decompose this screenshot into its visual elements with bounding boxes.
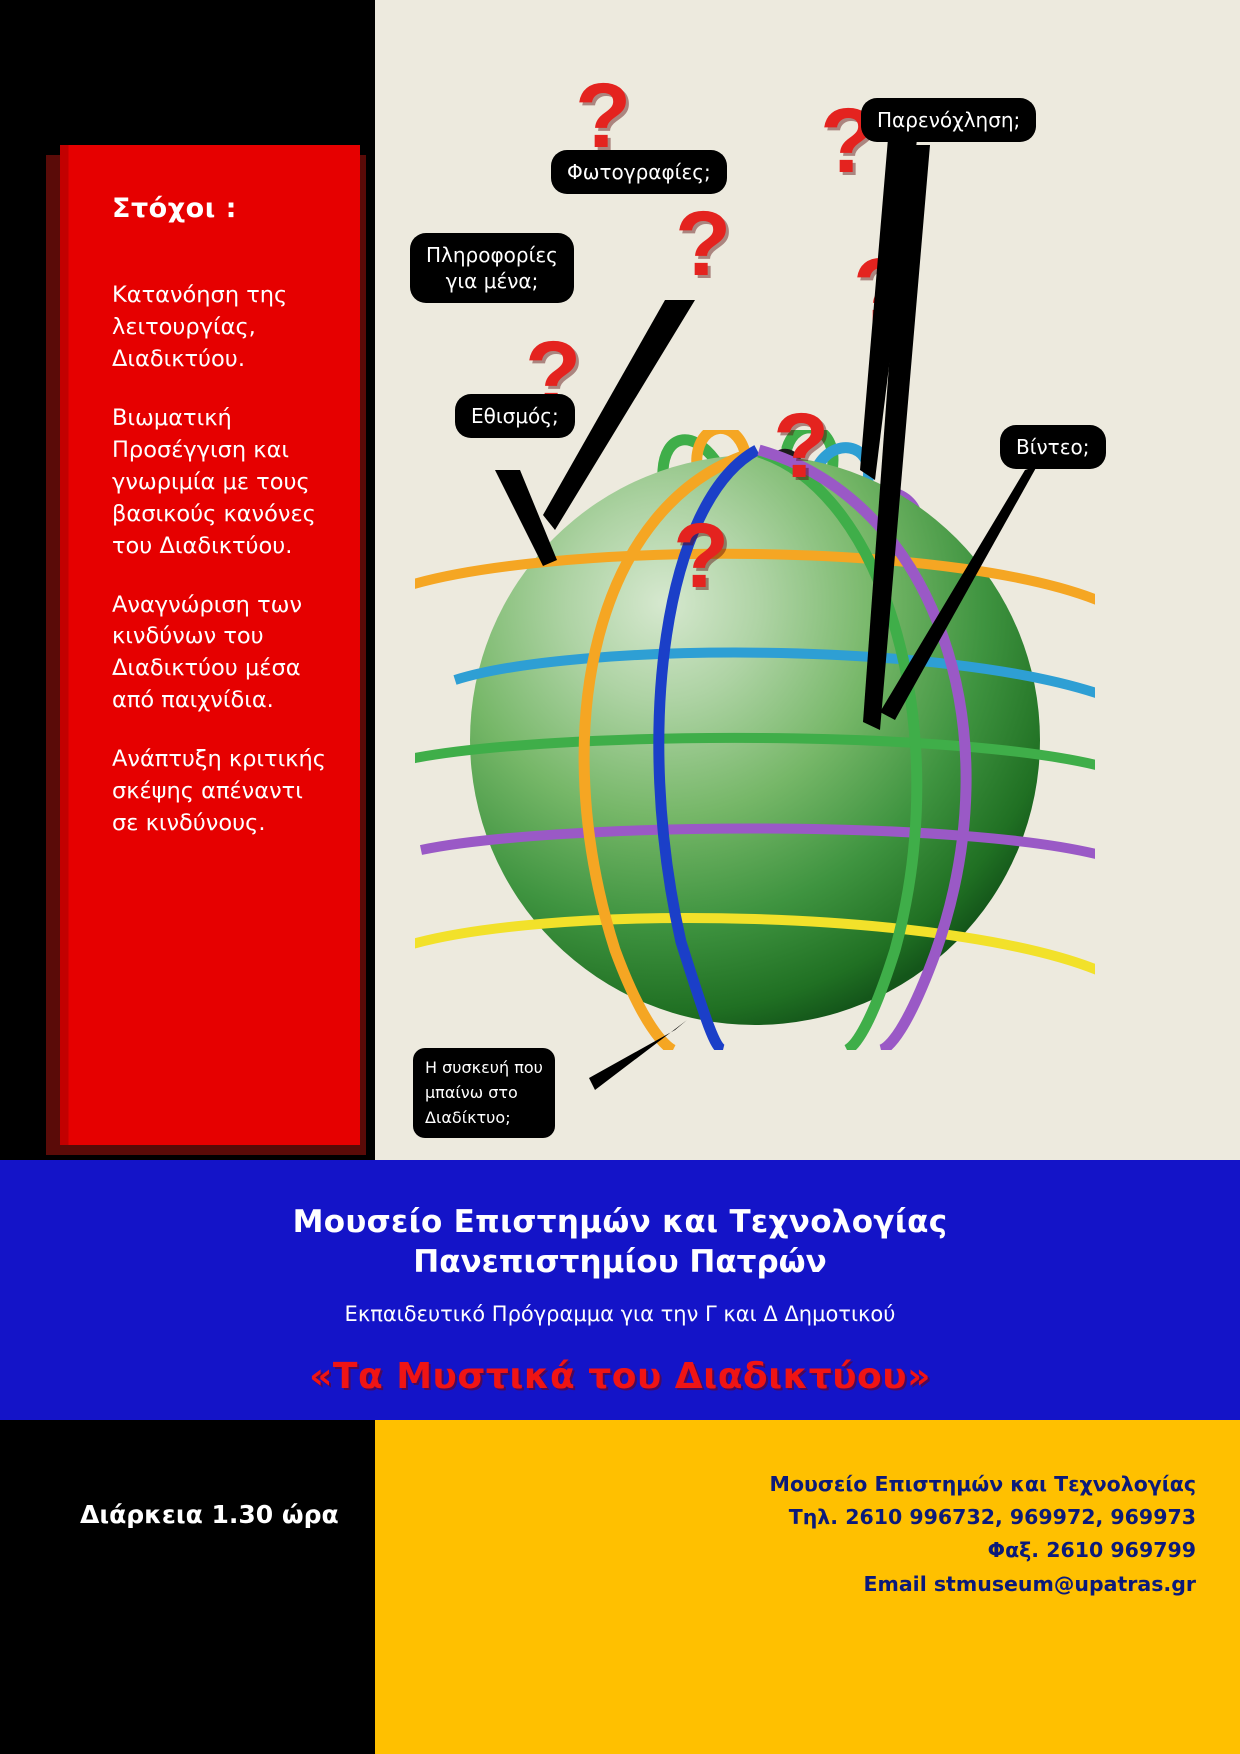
goal-item: Ανάπτυξη κριτικής σκέψης απέναντι σε κιν… [112, 744, 330, 840]
contact-phone: Τηλ. 2610 996732, 969972, 969973 [375, 1501, 1196, 1534]
goals-title: Στόχοι : [112, 193, 330, 224]
bubble-addiction: Εθισμός; [455, 394, 575, 438]
contact-fax: Φαξ. 2610 969799 [375, 1534, 1196, 1567]
bubble-pointers [375, 0, 1240, 1160]
goals-panel: Στόχοι : Κατανόηση της λειτουργίας, Διαδ… [60, 145, 360, 1145]
organization-line-1: Μουσείο Επιστημών και Τεχνολογίας [0, 1160, 1240, 1240]
contact-email[interactable]: Email stmuseum@upatras.gr [375, 1568, 1196, 1601]
program-subtitle: Εκπαιδευτικό Πρόγραμμα για την Γ και Δ Δ… [0, 1302, 1240, 1326]
poster-root: ? ? ? ? ? ? ? Εθισμός; Πληροφορίες για μ… [0, 0, 1240, 1754]
contact-museum-name: Μουσείο Επιστημών και Τεχνολογίας [375, 1468, 1196, 1501]
bubble-info-about-me: Πληροφορίες για μένα; [410, 233, 574, 303]
goal-item: Κατανόηση της λειτουργίας, Διαδικτύου. [112, 280, 330, 376]
illustration-stage: ? ? ? ? ? ? ? Εθισμός; Πληροφορίες για μ… [375, 0, 1240, 1160]
organization-line-2: Πανεπιστημίου Πατρών [0, 1244, 1240, 1280]
bubble-harassment: Παρενόχληση; [861, 98, 1036, 142]
duration-label: Διάρκεια 1.30 ώρα [80, 1500, 339, 1529]
goal-item: Βιωματική Προσέγγιση και γνωριμία με του… [112, 403, 330, 563]
goal-item: Αναγνώριση των κινδύνων του Διαδικτύου μ… [112, 590, 330, 718]
bubble-photos: Φωτογραφίες; [551, 150, 727, 194]
bubble-device: Η συσκευή που μπαίνω στο Διαδίκτυο; [413, 1048, 555, 1138]
duration-area: Διάρκεια 1.30 ώρα [0, 1420, 375, 1754]
contact-box: Μουσείο Επιστημών και Τεχνολογίας Τηλ. 2… [375, 1420, 1240, 1754]
bubble-video: Βίντεο; [1000, 425, 1106, 469]
poster-title: «Τα Μυστικά του Διαδικτύου» [0, 1356, 1240, 1397]
footer-blue-band: Μουσείο Επιστημών και Τεχνολογίας Πανεπι… [0, 1160, 1240, 1420]
